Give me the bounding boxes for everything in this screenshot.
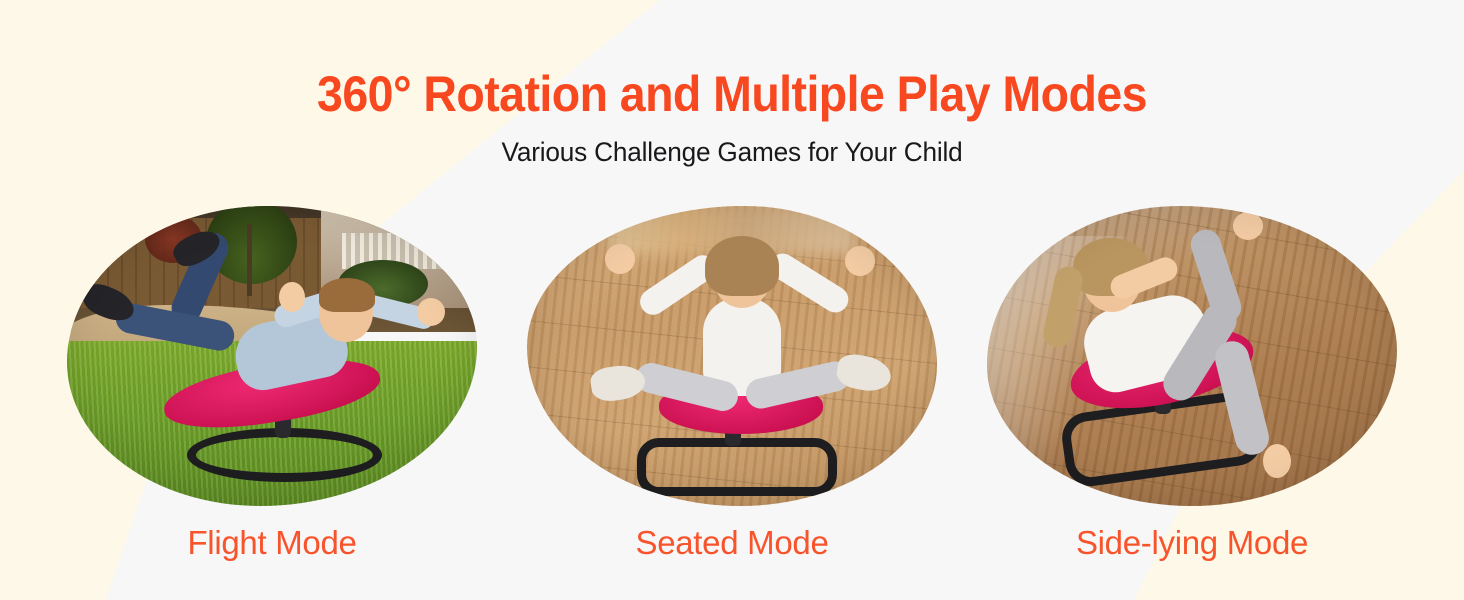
mode-card-flight: Flight Mode xyxy=(42,206,502,562)
mode-label-side-lying: Side-lying Mode xyxy=(1076,524,1308,562)
mode-photo-flight xyxy=(67,206,477,506)
mode-card-list: Flight Mode xyxy=(0,206,1464,576)
mode-label-flight: Flight Mode xyxy=(187,524,356,562)
mode-photo-seated xyxy=(527,206,937,506)
feature-banner: 360° Rotation and Multiple Play Modes Va… xyxy=(0,0,1464,600)
mode-photo-side-lying xyxy=(987,206,1397,506)
mode-label-seated: Seated Mode xyxy=(635,524,828,562)
heading-block: 360° Rotation and Multiple Play Modes Va… xyxy=(0,0,1464,168)
mode-card-side-lying: Side-lying Mode xyxy=(962,206,1422,562)
mode-card-seated: Seated Mode xyxy=(502,206,962,562)
page-title: 360° Rotation and Multiple Play Modes xyxy=(51,68,1413,121)
page-subtitle: Various Challenge Games for Your Child xyxy=(22,137,1442,168)
